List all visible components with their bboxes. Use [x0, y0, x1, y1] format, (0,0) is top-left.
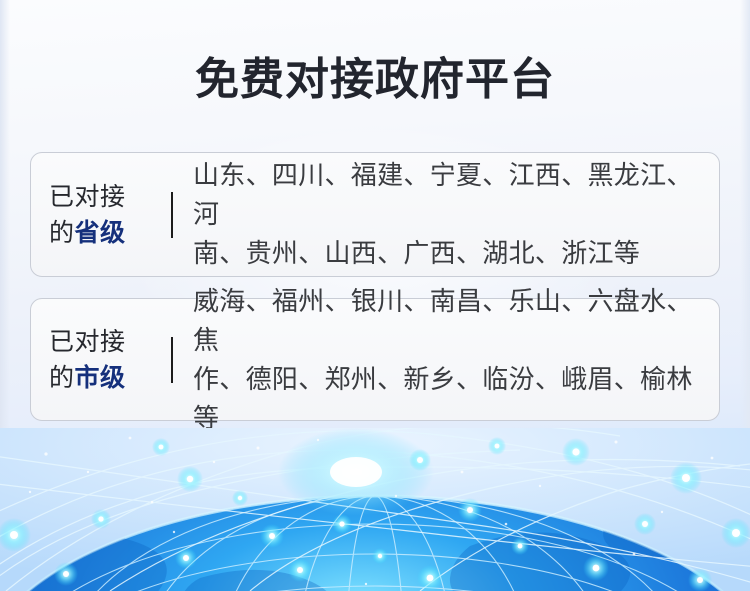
provinces-label-line1: 已对接 [49, 179, 167, 215]
cities-label-prefix: 的 [49, 364, 75, 392]
cities-level-badge: 市级 [75, 364, 126, 392]
cities-list: 威海、福州、银川、南昌、乐山、六盘水、焦 作、德阳、郑州、新乡、临汾、峨眉、榆林… [193, 282, 719, 438]
provinces-level-badge: 省级 [75, 219, 126, 247]
cities-list-line1: 威海、福州、银川、南昌、乐山、六盘水、焦 [193, 282, 699, 360]
network-globe-graphic [0, 428, 750, 591]
cities-label-line1: 已对接 [49, 324, 167, 360]
provinces-list-line1: 山东、四川、福建、宁夏、江西、黑龙江、河 [193, 156, 699, 234]
provinces-label-prefix: 的 [49, 219, 75, 247]
connected-provinces-card: 已对接 的省级 山东、四川、福建、宁夏、江西、黑龙江、河 南、贵州、山西、广西、… [30, 152, 720, 277]
cities-card-label: 已对接 的市级 [49, 324, 167, 396]
provinces-card-label: 已对接 的省级 [49, 179, 167, 251]
cities-label-line2: 的市级 [49, 360, 167, 396]
globe-svg [0, 428, 750, 591]
cities-card-divider [171, 337, 173, 383]
page-title: 免费对接政府平台 [0, 52, 750, 108]
connected-cities-card: 已对接 的市级 威海、福州、银川、南昌、乐山、六盘水、焦 作、德阳、郑州、新乡、… [30, 298, 720, 421]
provinces-card-divider [171, 192, 173, 238]
cities-list-line2: 作、德阳、郑州、新乡、临汾、峨眉、榆林等 [193, 360, 699, 438]
provinces-list: 山东、四川、福建、宁夏、江西、黑龙江、河 南、贵州、山西、广西、湖北、浙江等 [193, 156, 719, 273]
promo-banner: 免费对接政府平台 已对接 的省级 山东、四川、福建、宁夏、江西、黑龙江、河 南、… [0, 0, 750, 591]
provinces-list-line2: 南、贵州、山西、广西、湖北、浙江等 [193, 234, 699, 273]
provinces-label-line2: 的省级 [49, 215, 167, 251]
